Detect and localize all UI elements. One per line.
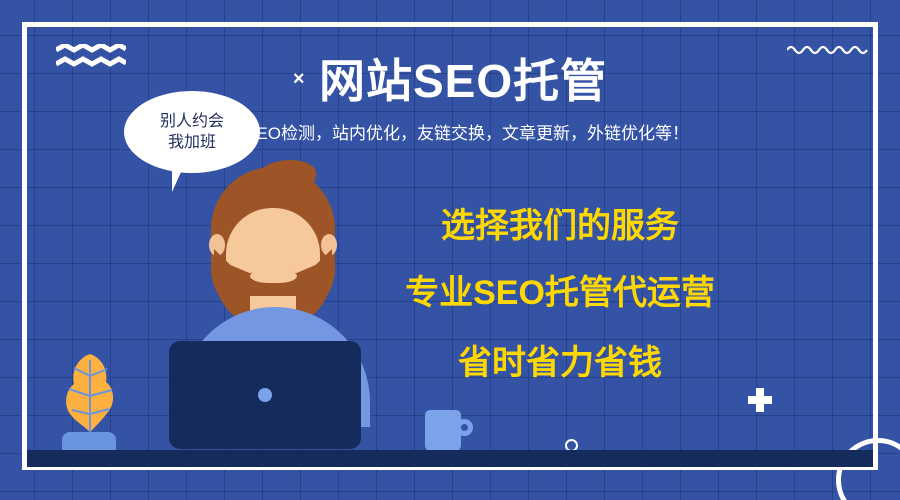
speech-bubble-line-1: 别人约会	[160, 111, 224, 132]
speech-bubble-text: 别人约会 我加班	[124, 91, 260, 173]
mouth-shape	[250, 269, 297, 283]
coffee-mug	[425, 410, 461, 452]
laptop-logo-icon	[258, 388, 272, 402]
seo-service-banner: × 网站SEO托管 含：SEO检测，站内优化，友链交换，文章更新，外链优化等！ …	[0, 0, 900, 500]
speech-bubble-line-2: 我加班	[168, 132, 216, 153]
desk-surface	[27, 450, 873, 467]
speech-bubble: 别人约会 我加班	[124, 91, 260, 173]
plant-leaf-icon	[62, 352, 118, 436]
